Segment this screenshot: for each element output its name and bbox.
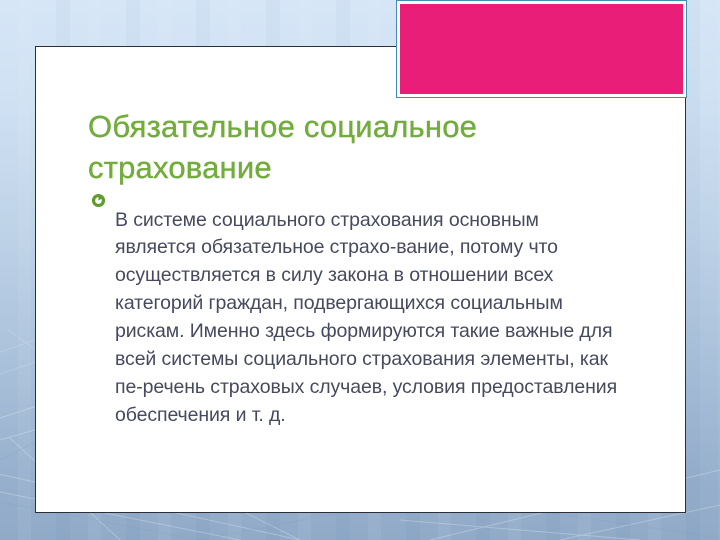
pink-accent-fill <box>400 4 683 94</box>
bullet-list-item: В системе социального страхования основн… <box>91 187 621 449</box>
bullet-paragraph: В системе социального страхования основн… <box>115 207 621 430</box>
content-card: Обязательное социальное страхование В си… <box>35 46 686 513</box>
pink-accent-box <box>396 0 687 98</box>
presentation-slide: Обязательное социальное страхование В си… <box>0 0 720 540</box>
slide-title: Обязательное социальное страхование <box>88 106 628 188</box>
green-ring-bullet-icon <box>91 193 106 208</box>
